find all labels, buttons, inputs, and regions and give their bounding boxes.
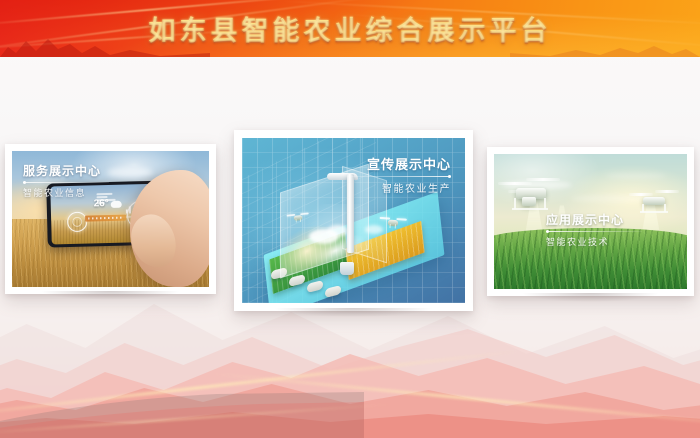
card-application-image: 应用展示中心 智能农业技术	[494, 154, 687, 289]
light-streak-1	[0, 349, 523, 419]
dark-ridge-decor	[0, 392, 364, 438]
page-title: 如东县智能农业综合展示平台	[0, 0, 700, 57]
card-service-caption: 服务展示中心 智能农业信息	[23, 162, 109, 199]
cloud-shape	[365, 225, 383, 234]
caption-divider	[345, 176, 451, 177]
cloud-icon	[111, 201, 122, 208]
cloud-shape	[327, 225, 349, 237]
card-promotion-image: 宣传展示中心 智能农业生产	[242, 138, 465, 303]
card-application-center[interactable]: 应用展示中心 智能农业技术	[487, 147, 694, 296]
caption-divider	[23, 182, 109, 183]
header-banner: 如东县智能农业综合展示平台	[0, 0, 700, 57]
mountain-layer-near	[0, 318, 700, 438]
caption-divider	[546, 231, 642, 232]
temperature-readout: 26°	[94, 199, 109, 210]
planter-pot	[340, 262, 354, 275]
card-service-center[interactable]: 26°	[5, 144, 216, 294]
card-promotion-subtitle: 智能农业生产	[345, 180, 451, 195]
drone-icon	[498, 176, 572, 212]
card-service-subtitle: 智能农业信息	[23, 186, 109, 199]
light-streak-2	[211, 372, 700, 429]
hud-data-strip	[85, 215, 127, 222]
hud-ring-icon	[68, 212, 89, 233]
drone-icon	[382, 216, 406, 229]
card-service-image: 26°	[12, 151, 209, 287]
card-promotion-center[interactable]: 宣传展示中心 智能农业生产	[234, 130, 473, 311]
mountain-layer-front	[0, 360, 700, 438]
card-promotion-caption: 宣传展示中心 智能农业生产	[345, 154, 451, 195]
card-service-title: 服务展示中心	[23, 162, 109, 179]
light-streak-3	[0, 403, 392, 434]
card-application-caption: 应用展示中心 智能农业技术	[546, 211, 642, 248]
card-application-subtitle: 智能农业技术	[546, 235, 642, 248]
card-application-title: 应用展示中心	[546, 211, 642, 228]
card-promotion-title: 宣传展示中心	[345, 154, 451, 173]
cloud-shape	[606, 173, 666, 179]
page-background: 如东县智能农业综合展示平台 26°	[0, 0, 700, 438]
